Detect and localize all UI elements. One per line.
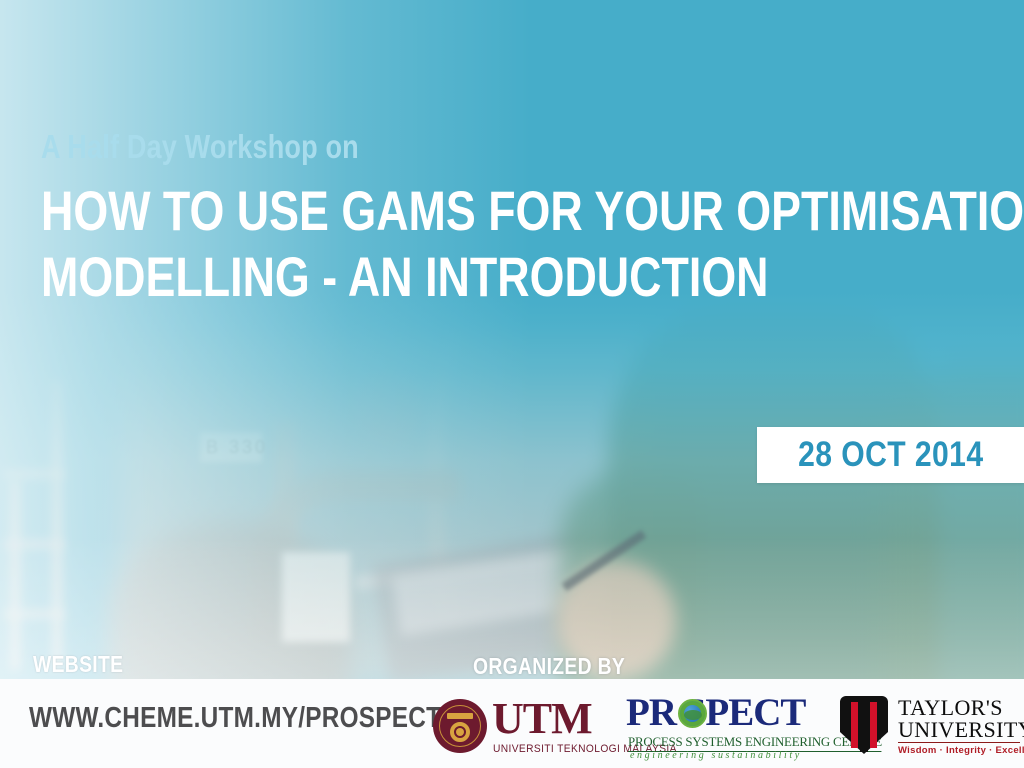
workshop-kicker: A Half Day Workshop on (41, 128, 359, 166)
taylors-divider (898, 742, 1020, 743)
website-url[interactable]: WWW.CHEME.UTM.MY/PROSPECT (29, 702, 441, 735)
date-badge-text: 28 OCT 2014 (798, 435, 983, 475)
taylors-logo: TAYLOR'S UNIVERSITY Wisdom · Integrity ·… (840, 692, 1024, 760)
date-badge: 28 OCT 2014 (757, 427, 1024, 483)
workshop-poster: B 330 A Half Day Workshop on HOW TO USE … (0, 0, 1024, 768)
prospect-logo: PR SPECT PROCESS SYSTEMS ENGINEERING CEN… (626, 692, 836, 760)
website-label: WEBSITE (33, 651, 123, 678)
taylors-wordmark-line2: UNIVERSITY (898, 718, 1024, 741)
title-line-1: HOW TO USE GAMS FOR YOUR OPTIMISATION (41, 178, 793, 244)
organizer-logos: UTM UNIVERSITI TEKNOLOGI MALAYSIA PR SPE… (430, 690, 1024, 762)
taylors-stripe-red-right (870, 702, 877, 748)
taylors-motto: Wisdom · Integrity · Excellence (898, 745, 1024, 756)
utm-seal-icon (433, 699, 487, 753)
page-title: HOW TO USE GAMS FOR YOUR OPTIMISATION MO… (41, 178, 981, 310)
prospect-wordmark: PR SPECT (626, 692, 805, 734)
prospect-tagline: engineering sustainability (630, 750, 802, 761)
utm-seal-inner-icon (439, 705, 481, 747)
utm-wordmark: UTM (492, 697, 592, 741)
utm-dot-shape (456, 728, 464, 736)
taylors-wordmark-line1: TAYLOR'S (898, 696, 1003, 719)
globe-icon (678, 699, 707, 728)
taylors-stripe-black-center (860, 702, 868, 752)
utm-bar-shape (447, 713, 473, 719)
utm-logo: UTM UNIVERSITI TEKNOLOGI MALAYSIA (430, 693, 610, 759)
title-line-2: MODELLING - AN INTRODUCTION (41, 244, 793, 310)
taylors-stripe-red-left (851, 702, 858, 748)
organized-by-label: ORGANIZED BY (473, 653, 625, 680)
